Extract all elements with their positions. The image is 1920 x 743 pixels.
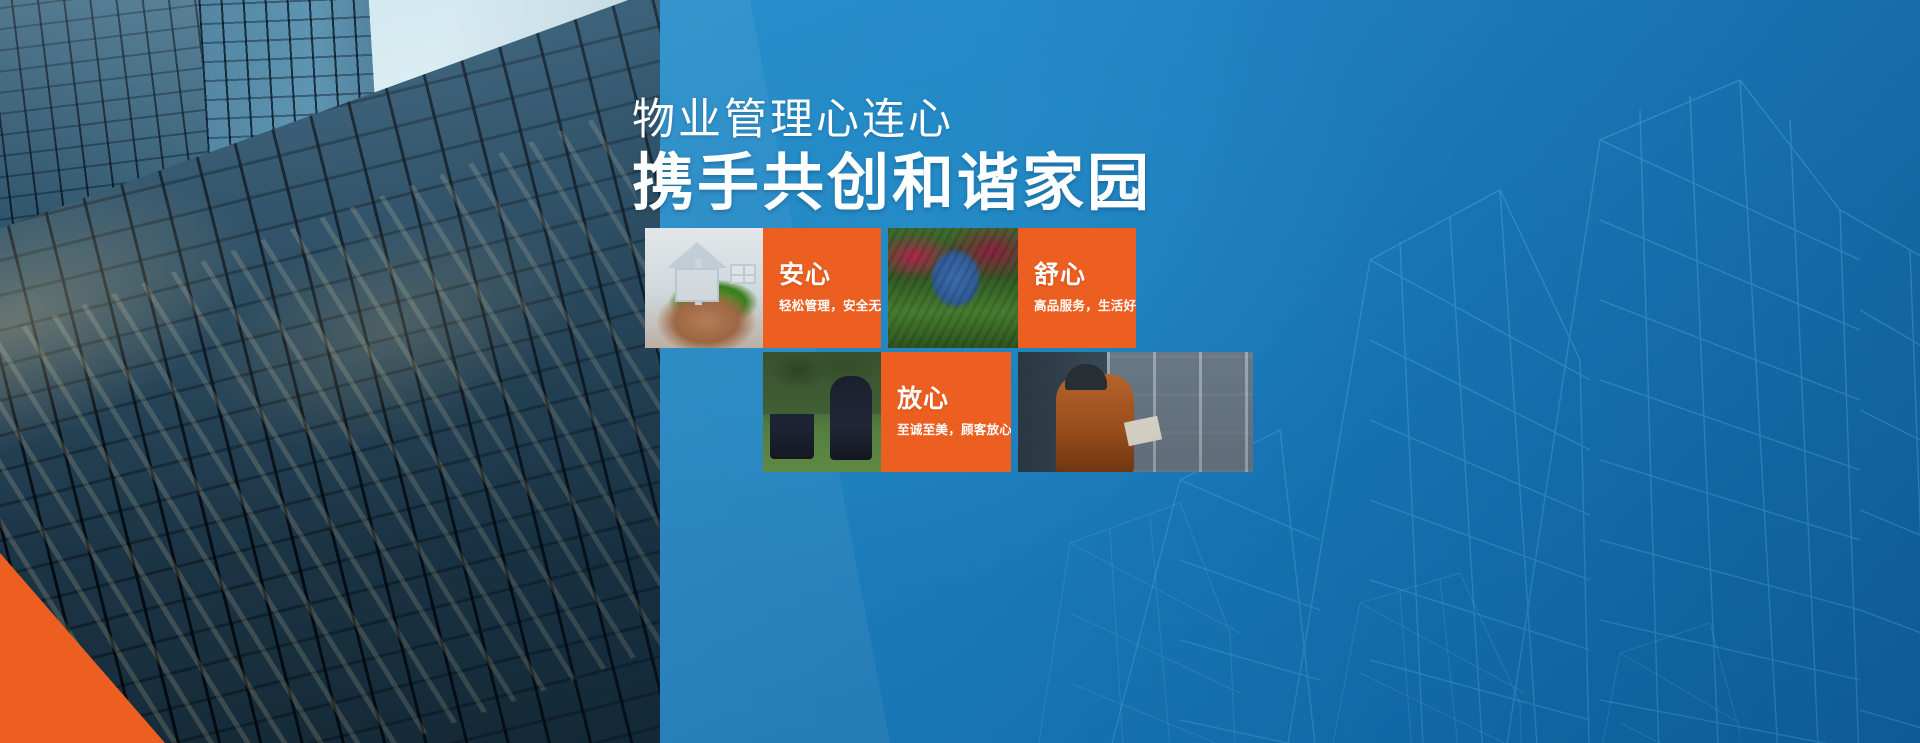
security-guards-photo-icon [763,352,881,472]
tile-gardener [888,228,1018,348]
gardener-photo-icon [888,228,1018,348]
property-management-hero-banner: 物业管理心连心 携手共创和谐家园 安心 轻松管理，安全无忧 舒心 高品服务，生活… [0,0,1920,743]
headline-block: 物业管理心连心 携手共创和谐家园 [632,98,1152,217]
tile-anxin-desc: 轻松管理，安全无忧 [779,299,881,314]
tile-shuxin[interactable]: 舒心 高品服务，生活好管家 [1018,228,1136,348]
tile-security-guards [763,352,881,472]
tile-electrician [1018,352,1253,472]
headline-subtitle: 物业管理心连心 [632,98,1152,143]
headline-title: 携手共创和谐家园 [632,151,1152,217]
tile-shuxin-title: 舒心 [1034,262,1136,290]
tile-shuxin-desc: 高品服务，生活好管家 [1034,299,1136,314]
tile-anxin[interactable]: 安心 轻松管理，安全无忧 [763,228,881,348]
feature-tile-grid: 安心 轻松管理，安全无忧 舒心 高品服务，生活好管家 放心 至诚至美，顾客放心 [645,228,1253,472]
tile-fangxin-desc: 至诚至美，顾客放心 [897,423,1011,438]
tile-fangxin[interactable]: 放心 至诚至美，顾客放心 [881,352,1011,472]
tile-hands-green-house [645,228,763,348]
house-window-icon [730,264,756,284]
tile-fangxin-title: 放心 [897,386,1011,414]
trees-backdrop-icon [763,352,881,414]
house-wall-icon [675,268,719,302]
electrician-photo-icon [1018,352,1253,472]
safety-helmet-icon [1065,364,1107,390]
tile-anxin-title: 安心 [779,262,881,290]
green-house-illustration-icon [645,228,763,348]
